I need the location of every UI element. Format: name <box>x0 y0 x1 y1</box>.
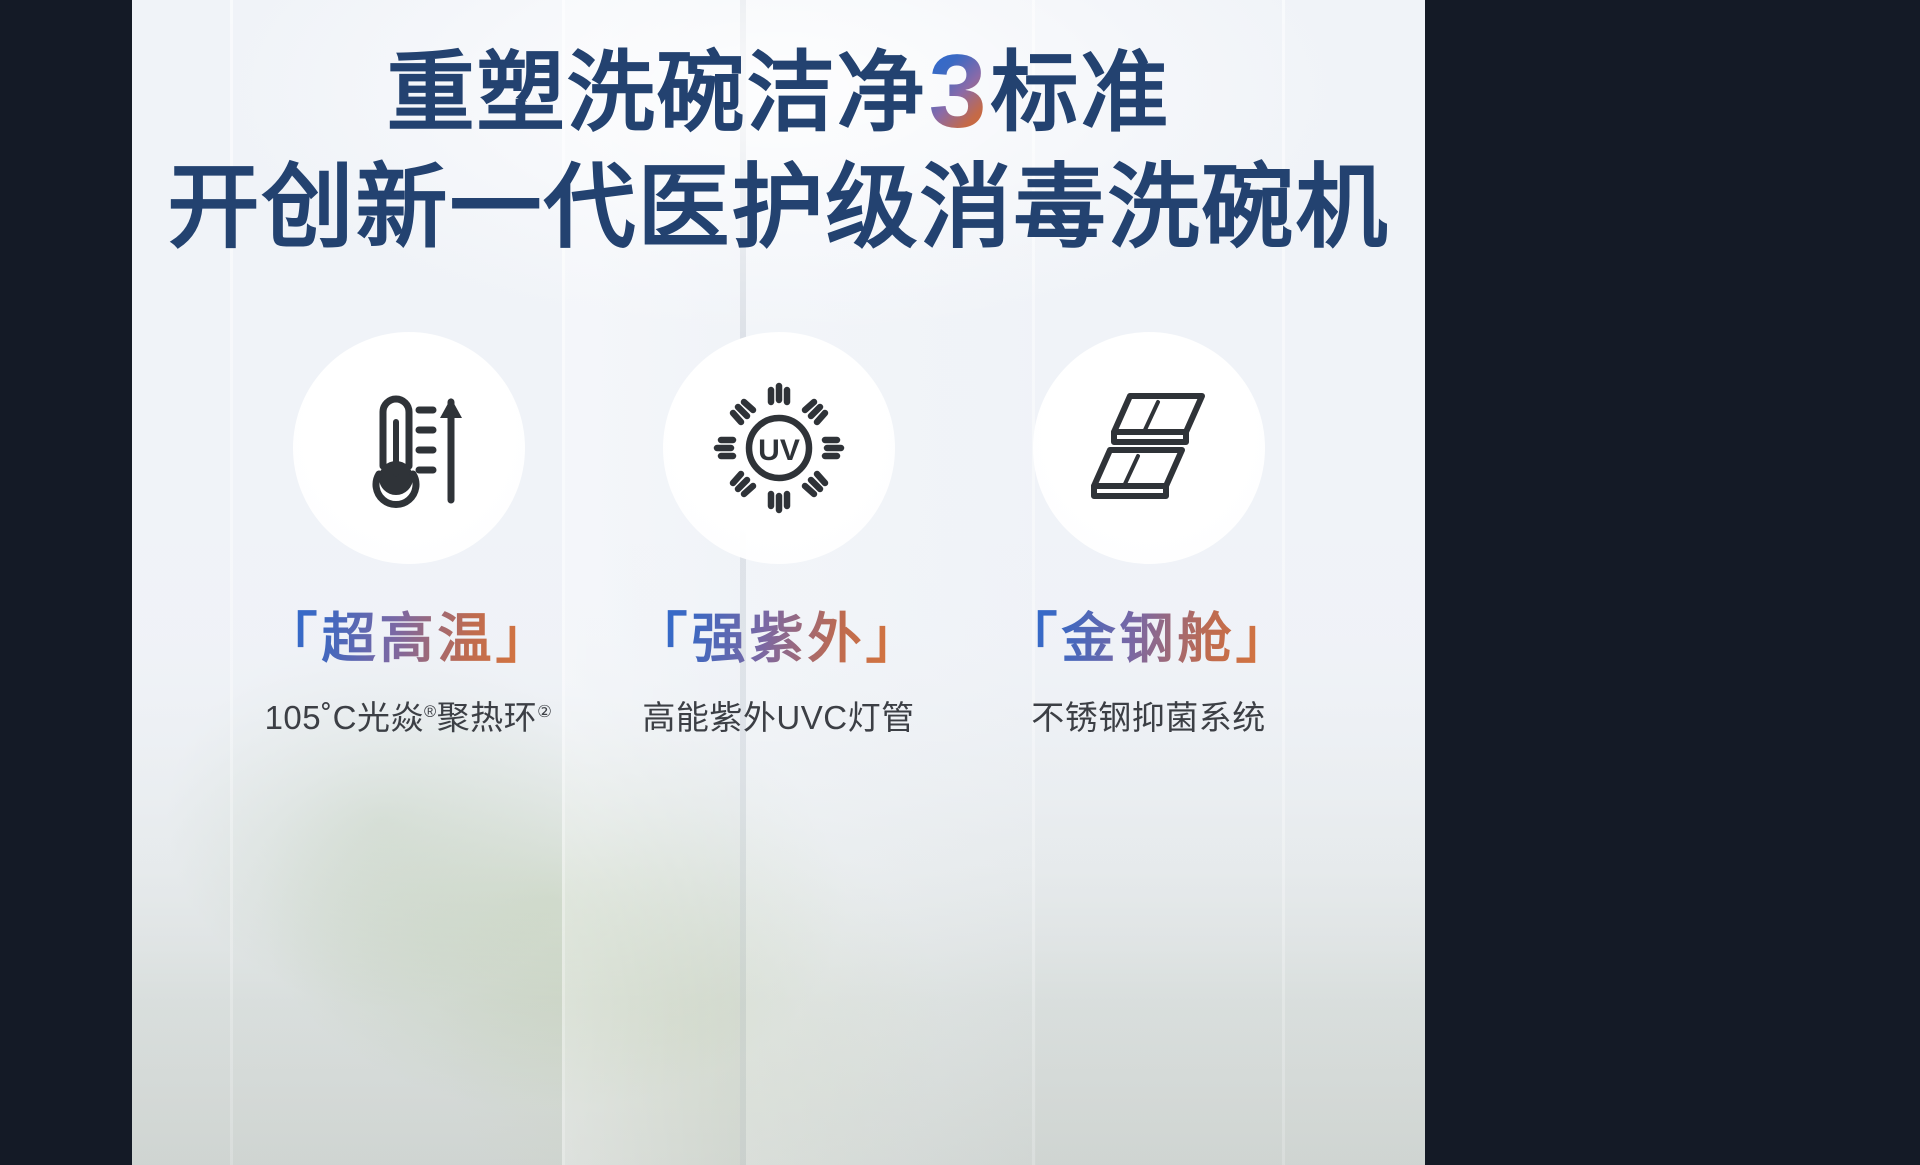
feature-card-steel-chamber: 「金钢舱」 不锈钢抑菌系统 <box>989 332 1309 739</box>
feature-card-uv: UV 「强紫外」 高能紫外UVC <box>619 332 939 739</box>
screenshot-root: 重塑洗碗洁净3标准 开创新一代医护级消毒洗碗机 <box>0 0 1920 1165</box>
feature-subtitle: 不锈钢抑菌系统 <box>1031 691 1266 739</box>
feature-title: 「超高温」 <box>264 594 554 673</box>
feature-subtitle-tail: 聚热环 <box>437 699 538 736</box>
feature-subtitle: 105˚C光焱®聚热环② <box>265 691 553 739</box>
headline-line-2: 开创新一代医护级消毒洗碗机 <box>132 162 1425 254</box>
feature-card-high-temperature: 「超高温」 105˚C光焱®聚热环② <box>249 332 569 739</box>
feature-subtitle: 高能紫外UVC灯管 <box>642 691 914 739</box>
feature-icon-badge: UV <box>663 332 895 564</box>
feature-row: 「超高温」 105˚C光焱®聚热环② UV <box>132 332 1425 739</box>
feature-icon-badge <box>293 332 525 564</box>
thermometer-icon <box>339 378 479 518</box>
right-letterbox-bar <box>1425 0 1920 1165</box>
feature-subtitle-superscript-2: ② <box>537 703 552 721</box>
feature-title: 「金钢舱」 <box>1004 594 1294 673</box>
feature-title: 「强紫外」 <box>634 594 924 673</box>
headline-line-1: 重塑洗碗洁净3标准 <box>132 36 1425 140</box>
headline-line-1-before: 重塑洗碗洁净 <box>387 43 927 142</box>
product-poster: 重塑洗碗洁净3标准 开创新一代医护级消毒洗碗机 <box>132 0 1425 1165</box>
feature-subtitle-superscript-1: ® <box>424 703 437 721</box>
stacked-plates-icon <box>1074 378 1224 518</box>
uv-sun-icon: UV <box>709 378 849 518</box>
feature-icon-badge <box>1033 332 1265 564</box>
left-letterbox-bar <box>0 0 132 1165</box>
feature-subtitle-main: 105˚C光焱 <box>265 699 424 736</box>
headline-line-1-after: 标准 <box>990 43 1170 142</box>
svg-text:UV: UV <box>758 434 800 467</box>
headline-block: 重塑洗碗洁净3标准 开创新一代医护级消毒洗碗机 <box>132 36 1425 254</box>
headline-accent-numeral: 3 <box>927 40 991 144</box>
